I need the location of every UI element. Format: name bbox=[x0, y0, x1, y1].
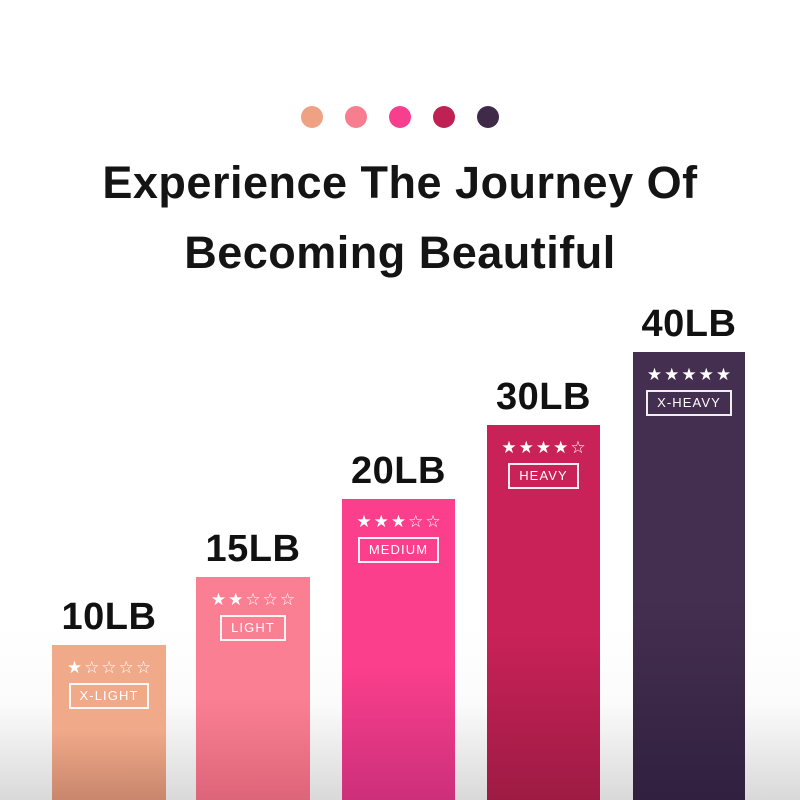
star-filled-icon: ★ bbox=[553, 439, 568, 456]
star-empty-icon: ☆ bbox=[245, 591, 260, 608]
bar-group-medium[interactable]: 20LB★★★☆☆MEDIUM bbox=[342, 499, 455, 800]
level-label-x-heavy: X-HEAVY bbox=[646, 390, 732, 416]
star-filled-icon: ★ bbox=[391, 513, 406, 530]
star-empty-icon: ☆ bbox=[263, 591, 278, 608]
bar-weight-label-heavy: 30LB bbox=[487, 375, 600, 419]
bar-badge-light: ★★☆☆☆LIGHT bbox=[196, 591, 310, 641]
bar-badge-x-heavy: ★★★★★X-HEAVY bbox=[633, 366, 745, 416]
star-rating-medium: ★★★☆☆ bbox=[356, 513, 440, 530]
star-filled-icon: ★ bbox=[228, 591, 243, 608]
poster-canvas: Experience The Journey Of Becoming Beaut… bbox=[0, 0, 800, 800]
star-filled-icon: ★ bbox=[681, 366, 696, 383]
bar-weight-label-x-heavy: 40LB bbox=[633, 302, 745, 346]
star-filled-icon: ★ bbox=[647, 366, 662, 383]
bar-badge-medium: ★★★☆☆MEDIUM bbox=[342, 513, 455, 563]
star-rating-x-light: ★☆☆☆☆ bbox=[67, 659, 151, 676]
bar-badge-x-light: ★☆☆☆☆X-LIGHT bbox=[52, 659, 166, 709]
star-filled-icon: ★ bbox=[374, 513, 389, 530]
bar-badge-heavy: ★★★★☆HEAVY bbox=[487, 439, 600, 489]
star-filled-icon: ★ bbox=[536, 439, 551, 456]
star-filled-icon: ★ bbox=[67, 659, 82, 676]
bar-group-x-light[interactable]: 10LB★☆☆☆☆X-LIGHT bbox=[52, 645, 166, 800]
bar-x-heavy[interactable] bbox=[633, 352, 745, 800]
bar-weight-label-medium: 20LB bbox=[342, 449, 455, 493]
star-rating-heavy: ★★★★☆ bbox=[501, 439, 585, 456]
star-filled-icon: ★ bbox=[716, 366, 731, 383]
level-label-medium: MEDIUM bbox=[358, 537, 439, 563]
star-filled-icon: ★ bbox=[501, 439, 516, 456]
star-rating-light: ★★☆☆☆ bbox=[211, 591, 295, 608]
resistance-bar-chart: 10LB★☆☆☆☆X-LIGHT15LB★★☆☆☆LIGHT20LB★★★☆☆M… bbox=[0, 0, 800, 800]
level-label-heavy: HEAVY bbox=[508, 463, 579, 489]
star-rating-x-heavy: ★★★★★ bbox=[647, 366, 731, 383]
star-empty-icon: ☆ bbox=[570, 439, 585, 456]
star-filled-icon: ★ bbox=[356, 513, 371, 530]
star-empty-icon: ☆ bbox=[84, 659, 99, 676]
bar-weight-label-x-light: 10LB bbox=[52, 595, 166, 639]
star-filled-icon: ★ bbox=[699, 366, 714, 383]
star-filled-icon: ★ bbox=[211, 591, 226, 608]
star-empty-icon: ☆ bbox=[425, 513, 440, 530]
bar-group-x-heavy[interactable]: 40LB★★★★★X-HEAVY bbox=[633, 352, 745, 800]
star-empty-icon: ☆ bbox=[101, 659, 116, 676]
bar-group-heavy[interactable]: 30LB★★★★☆HEAVY bbox=[487, 425, 600, 800]
star-empty-icon: ☆ bbox=[119, 659, 134, 676]
star-filled-icon: ★ bbox=[664, 366, 679, 383]
star-empty-icon: ☆ bbox=[136, 659, 151, 676]
level-label-x-light: X-LIGHT bbox=[69, 683, 150, 709]
star-filled-icon: ★ bbox=[519, 439, 534, 456]
bar-weight-label-light: 15LB bbox=[196, 527, 310, 571]
bar-group-light[interactable]: 15LB★★☆☆☆LIGHT bbox=[196, 577, 310, 800]
star-empty-icon: ☆ bbox=[280, 591, 295, 608]
star-empty-icon: ☆ bbox=[408, 513, 423, 530]
level-label-light: LIGHT bbox=[220, 615, 286, 641]
